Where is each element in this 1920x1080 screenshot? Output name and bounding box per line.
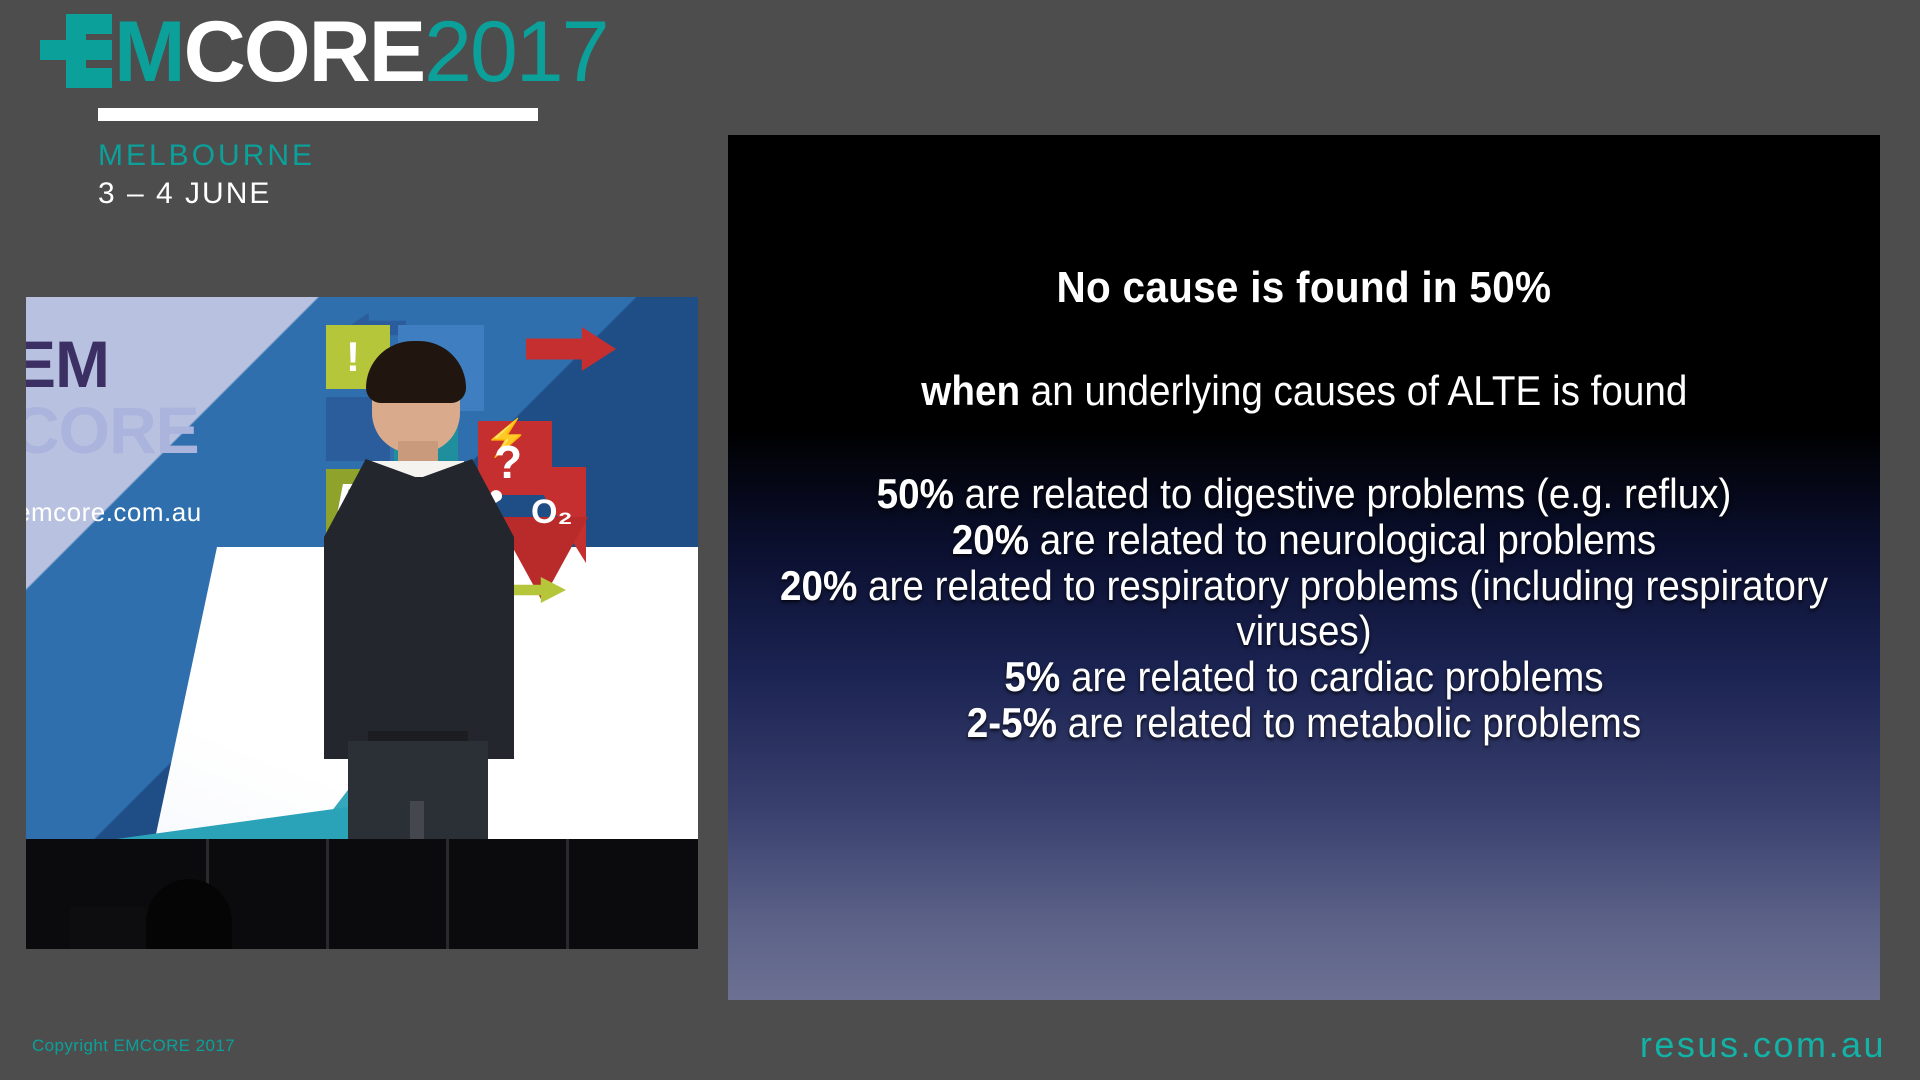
slide-cause-list: 50% are related to digestive problems (e…: [728, 471, 1880, 746]
copyright-notice: Copyright EMCORE 2017: [32, 1036, 235, 1056]
em-cross-logo-icon: [40, 14, 112, 88]
logo-underline-rule: [98, 108, 538, 121]
slide-subtitle-emphasis: when: [921, 367, 1020, 414]
list-item: 20% are related to respiratory problems …: [774, 563, 1834, 655]
presentation-slide[interactable]: No cause is found in 50% when an underly…: [728, 135, 1880, 1000]
video-emcore-line2: CORE: [26, 397, 199, 463]
emcore-branding: M CORE 2017 MELBOURNE 3 – 4 JUNE: [40, 4, 607, 211]
list-item-text: are related to metabolic problems: [1057, 699, 1641, 746]
logo-text-core: CORE: [184, 4, 424, 100]
list-item-text: are related to cardiac problems: [1060, 653, 1603, 700]
list-item-percent: 50%: [877, 470, 954, 517]
list-item-percent: 20%: [952, 516, 1029, 563]
logo-text-em: M: [114, 4, 184, 100]
speaker-video-panel[interactable]: EM CORE emcore.com.au ! Rx ⚡ ❤ ? O₂: [26, 297, 698, 949]
emcore-logo: M CORE 2017: [40, 4, 607, 100]
list-item: 50% are related to digestive problems (e…: [774, 471, 1834, 517]
list-item-text: are related to digestive problems (e.g. …: [954, 470, 1731, 517]
list-item-percent: 20%: [780, 562, 857, 609]
slide-title: No cause is found in 50%: [1057, 263, 1552, 313]
video-emcore-url: emcore.com.au: [26, 497, 202, 528]
video-emcore-line1: EM: [26, 331, 199, 397]
video-emcore-wordmark: EM CORE: [26, 331, 199, 463]
slide-subtitle: when an underlying causes of ALTE is fou…: [921, 367, 1687, 415]
event-dates: 3 – 4 JUNE: [98, 177, 607, 211]
list-item: 2-5% are related to metabolic problems: [774, 700, 1834, 746]
list-item-percent: 5%: [1004, 653, 1060, 700]
logo-text-year: 2017: [424, 4, 607, 100]
list-item-text: are related to neurological problems: [1029, 516, 1656, 563]
event-city: MELBOURNE: [98, 139, 607, 173]
list-item: 20% are related to neurological problems: [774, 517, 1834, 563]
list-item-text: are related to respiratory problems (inc…: [857, 562, 1828, 655]
site-url[interactable]: resus.com.au: [1640, 1024, 1886, 1066]
slide-subtitle-rest: an underlying causes of ALTE is found: [1020, 367, 1687, 414]
list-item: 5% are related to cardiac problems: [774, 654, 1834, 700]
list-item-percent: 2-5%: [967, 699, 1057, 746]
presentation-viewer: M CORE 2017 MELBOURNE 3 – 4 JUNE EM CORE…: [0, 0, 1920, 1080]
